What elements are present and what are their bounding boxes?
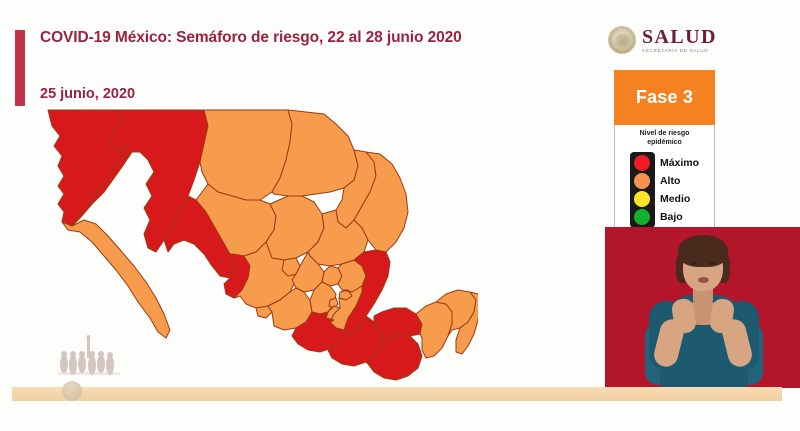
interpreter-left-eye [691,262,698,265]
lamp-maximo [634,155,650,171]
risk-legend-body: Máximo Alto Medio Bajo [619,152,710,228]
interpreter-right-eye [709,262,716,265]
risk-legend: Nivel de riesgo epidémico Máximo Alto Me… [614,125,715,235]
phase-label: Fase 3 [636,87,693,108]
mexican-coat-of-arms-icon [608,26,636,54]
footer-ground-bar [12,387,782,401]
page-title: COVID-19 México: Semáforo de riesgo, 22 … [40,29,462,47]
decorative-figures-watermark [52,334,128,386]
risk-legend-title: Nivel de riesgo epidémico [619,130,710,148]
sign-language-interpreter-video[interactable] [605,227,800,388]
salud-logo: SALUD SECRETARÍA DE SALUD [608,22,748,58]
salud-subtitle: SECRETARÍA DE SALUD [642,49,717,54]
presentation-slide: COVID-19 México: Semáforo de riesgo, 22 … [0,0,800,431]
legend-label-alto: Alto [660,172,699,190]
lamp-bajo [634,209,650,225]
interpreter-mouth [698,277,709,283]
salud-logo-text: SALUD SECRETARÍA DE SALUD [642,27,717,54]
lamp-alto [634,173,650,189]
risk-legend-labels: Máximo Alto Medio Bajo [660,154,699,226]
lamp-medio [634,191,650,207]
risk-legend-title-line1: Nivel de riesgo [619,130,710,139]
traffic-light-icon [630,152,655,228]
state-campeche [416,302,452,358]
legend-label-bajo: Bajo [660,208,699,226]
legend-label-maximo: Máximo [660,154,699,172]
phase-badge: Fase 3 [614,70,715,125]
title-accent-bar [15,30,25,106]
ground-stone-decoration [62,381,82,401]
risk-legend-title-line2: epidémico [619,139,710,148]
legend-label-medio: Medio [660,190,699,208]
salud-wordmark: SALUD [642,27,717,47]
interpreter-hair [678,235,728,267]
phase-legend-panel: Fase 3 Nivel de riesgo epidémico Máximo … [614,70,715,235]
